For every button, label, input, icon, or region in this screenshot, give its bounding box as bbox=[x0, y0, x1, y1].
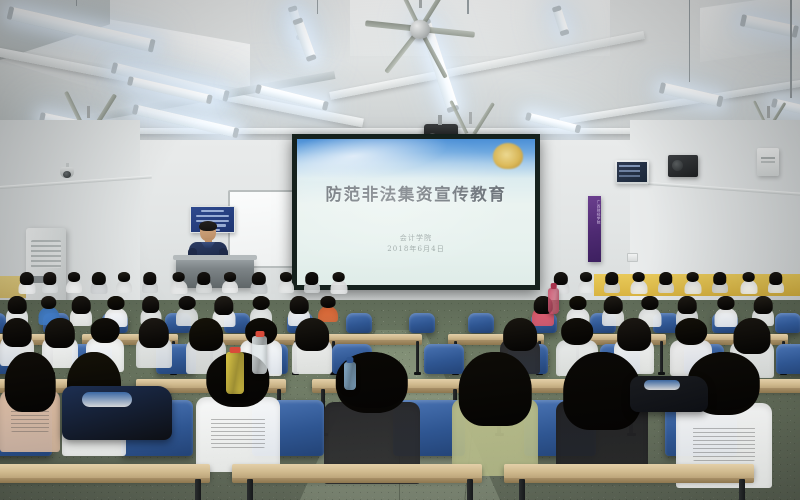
student-hair bbox=[713, 272, 726, 285]
student-hair bbox=[118, 272, 130, 281]
slide-organization: 会计学院 bbox=[297, 233, 535, 243]
student-hair bbox=[224, 272, 236, 281]
bottle-cap bbox=[255, 331, 264, 337]
student-hair bbox=[189, 318, 223, 351]
student bbox=[42, 272, 58, 293]
desk-edge bbox=[232, 478, 482, 483]
student bbox=[90, 272, 107, 294]
chair-back bbox=[775, 313, 800, 333]
av-control-panel[interactable] bbox=[615, 160, 649, 184]
student bbox=[18, 272, 35, 294]
backpack-blue bbox=[62, 386, 172, 440]
student-hair bbox=[72, 296, 91, 314]
desk-leg bbox=[660, 341, 663, 373]
student-hair bbox=[290, 296, 309, 314]
student-hair bbox=[332, 272, 345, 281]
student bbox=[768, 272, 784, 293]
student-hair bbox=[45, 318, 75, 348]
student bbox=[196, 272, 212, 293]
student-hair bbox=[659, 272, 672, 285]
shirt-graphic bbox=[693, 427, 754, 461]
student-torso bbox=[116, 280, 132, 293]
beverage-bottle-yellow bbox=[226, 352, 244, 394]
student-torso bbox=[278, 280, 294, 293]
student-torso bbox=[330, 280, 347, 294]
student-hair bbox=[605, 272, 618, 285]
desk-leg bbox=[739, 479, 745, 500]
student-hair bbox=[305, 272, 318, 285]
ceiling-fan bbox=[360, 6, 480, 52]
student bbox=[740, 272, 757, 294]
student-hair bbox=[142, 296, 160, 313]
student-torso bbox=[222, 280, 238, 293]
desk-top bbox=[504, 464, 754, 479]
student-hair bbox=[43, 272, 56, 285]
student-hair bbox=[280, 272, 292, 281]
classroom-photo: 广西财经学院 防范非法集资宣传教育 会计学院 2018年6月4日 bbox=[0, 0, 800, 500]
fan-hub bbox=[410, 20, 429, 39]
wall-outlet bbox=[627, 253, 638, 262]
student-hair bbox=[733, 318, 770, 354]
student bbox=[556, 352, 648, 482]
student bbox=[222, 272, 238, 293]
student bbox=[452, 352, 538, 476]
student-hair bbox=[503, 318, 537, 351]
desk-top bbox=[232, 464, 482, 479]
fan-rod bbox=[767, 106, 770, 118]
chair-back bbox=[776, 344, 800, 374]
desk-top bbox=[0, 464, 210, 479]
student-hair bbox=[675, 318, 707, 343]
student-torso bbox=[170, 280, 187, 294]
student-hair bbox=[641, 296, 658, 309]
shirt-graphic bbox=[211, 418, 265, 448]
student-torso bbox=[630, 280, 647, 294]
student bbox=[684, 272, 701, 294]
student-hair bbox=[754, 296, 773, 314]
student-torso bbox=[740, 280, 757, 294]
classroom-desk bbox=[232, 464, 482, 479]
student bbox=[136, 318, 172, 368]
student-hair bbox=[91, 318, 120, 341]
fan-rod bbox=[87, 106, 90, 118]
desk-leg bbox=[195, 479, 201, 500]
classroom-desk bbox=[326, 334, 422, 341]
desk-leg bbox=[519, 479, 525, 500]
student bbox=[712, 272, 728, 293]
student-hair bbox=[214, 296, 233, 315]
light-stem bbox=[76, 0, 78, 6]
student-hair bbox=[179, 296, 196, 309]
desk-foot bbox=[658, 372, 665, 375]
student bbox=[630, 272, 647, 294]
student-hair bbox=[197, 272, 210, 285]
chair-back bbox=[346, 313, 372, 333]
student-hair bbox=[5, 352, 56, 412]
student-hair bbox=[143, 272, 156, 285]
student-hair bbox=[769, 272, 782, 285]
student-hair bbox=[295, 318, 329, 351]
desk-leg bbox=[467, 479, 473, 500]
student bbox=[278, 272, 294, 293]
water-bottle-pink bbox=[548, 288, 559, 314]
student-hair bbox=[632, 272, 645, 281]
student-hair bbox=[253, 296, 270, 309]
student bbox=[330, 272, 347, 294]
chair-back bbox=[409, 313, 435, 333]
student-hair bbox=[172, 272, 185, 281]
ceiling-camera-icon bbox=[60, 163, 74, 178]
student bbox=[250, 272, 267, 294]
student-hair bbox=[3, 318, 32, 347]
student bbox=[304, 272, 320, 293]
classroom-chair bbox=[346, 313, 372, 333]
projection-screen: 防范非法集资宣传教育 会计学院 2018年6月4日 bbox=[292, 134, 540, 290]
student bbox=[578, 272, 594, 293]
student-torso bbox=[578, 280, 594, 293]
student-hair bbox=[580, 272, 592, 281]
student-hair bbox=[561, 318, 593, 343]
chair-back bbox=[468, 313, 494, 333]
podium bbox=[176, 258, 254, 288]
slide-title: 防范非法集资宣传教育 bbox=[297, 181, 535, 205]
student bbox=[0, 352, 60, 452]
bottle-cap bbox=[346, 357, 353, 363]
slide-date: 2018年6月4日 bbox=[297, 244, 535, 254]
student bbox=[66, 272, 82, 293]
student-hair bbox=[41, 296, 57, 308]
wall-speaker bbox=[668, 155, 698, 177]
student-hair bbox=[8, 296, 27, 314]
water-bottle-small bbox=[344, 362, 356, 390]
student-hair bbox=[617, 318, 651, 351]
light-stem bbox=[689, 0, 691, 82]
classroom-chair bbox=[775, 313, 800, 333]
bag-strap bbox=[644, 380, 680, 389]
wall-banner: 广西财经学院 bbox=[588, 196, 601, 262]
student bbox=[658, 272, 674, 293]
student-hair bbox=[91, 272, 105, 285]
student-hair bbox=[686, 272, 699, 281]
student-hair bbox=[604, 296, 623, 314]
slide-emblem-icon bbox=[493, 143, 523, 169]
student-hair bbox=[107, 296, 124, 309]
student-hair bbox=[742, 272, 755, 281]
student-torso bbox=[196, 397, 280, 472]
bottle-cap bbox=[550, 283, 557, 289]
classroom-desk bbox=[504, 464, 754, 479]
desk-leg bbox=[247, 479, 253, 500]
electrical-box bbox=[757, 148, 779, 176]
student-hair bbox=[569, 296, 586, 309]
classroom-chair bbox=[409, 313, 435, 333]
classroom-chair bbox=[776, 344, 800, 374]
student bbox=[604, 272, 620, 293]
banner-text: 广西财经学院 bbox=[588, 200, 601, 225]
student-hair bbox=[251, 272, 265, 285]
bottle-cap bbox=[230, 347, 241, 353]
light-stem bbox=[317, 0, 319, 14]
backpack-dark bbox=[630, 376, 708, 412]
student bbox=[116, 272, 132, 293]
light-stem bbox=[790, 0, 792, 98]
classroom-chair bbox=[468, 313, 494, 333]
student-torso bbox=[66, 280, 82, 293]
student-hair bbox=[678, 296, 697, 314]
student-torso bbox=[684, 280, 701, 294]
student-hair bbox=[459, 352, 532, 426]
student-hair bbox=[320, 296, 335, 307]
fan-rod bbox=[419, 0, 422, 8]
fan-rod bbox=[469, 112, 472, 124]
student-hair bbox=[19, 272, 33, 285]
bag-strap bbox=[82, 392, 133, 406]
student bbox=[170, 272, 187, 294]
desk-edge bbox=[0, 478, 210, 483]
student-hair bbox=[717, 296, 734, 309]
student-hair bbox=[139, 318, 169, 348]
student-hair bbox=[68, 272, 80, 281]
student bbox=[142, 272, 158, 293]
water-bottle-clear bbox=[252, 336, 267, 374]
classroom-desk bbox=[0, 464, 210, 479]
desk-edge bbox=[504, 478, 754, 483]
